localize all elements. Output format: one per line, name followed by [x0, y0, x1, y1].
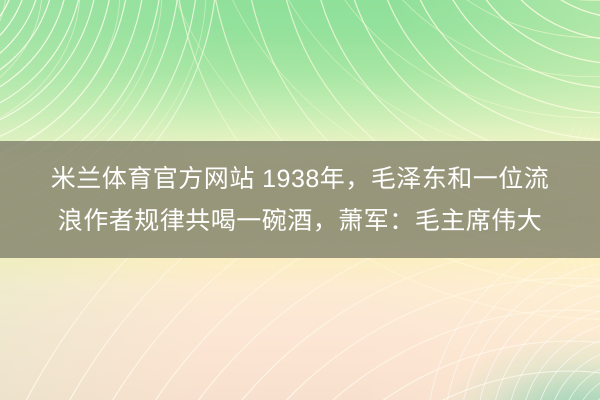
headline-line-1: 米兰体育官方网站 1938年，毛泽东和一位流: [51, 159, 550, 199]
headline-line-2: 浪作者规律共喝一碗酒，萧军：毛主席伟大: [58, 201, 543, 241]
teal-corner-accent: [380, 260, 600, 400]
promo-banner: 米兰体育官方网站 1938年，毛泽东和一位流 浪作者规律共喝一碗酒，萧军：毛主席…: [0, 0, 600, 400]
headline-band: 米兰体育官方网站 1938年，毛泽东和一位流 浪作者规律共喝一碗酒，萧军：毛主席…: [0, 141, 600, 258]
